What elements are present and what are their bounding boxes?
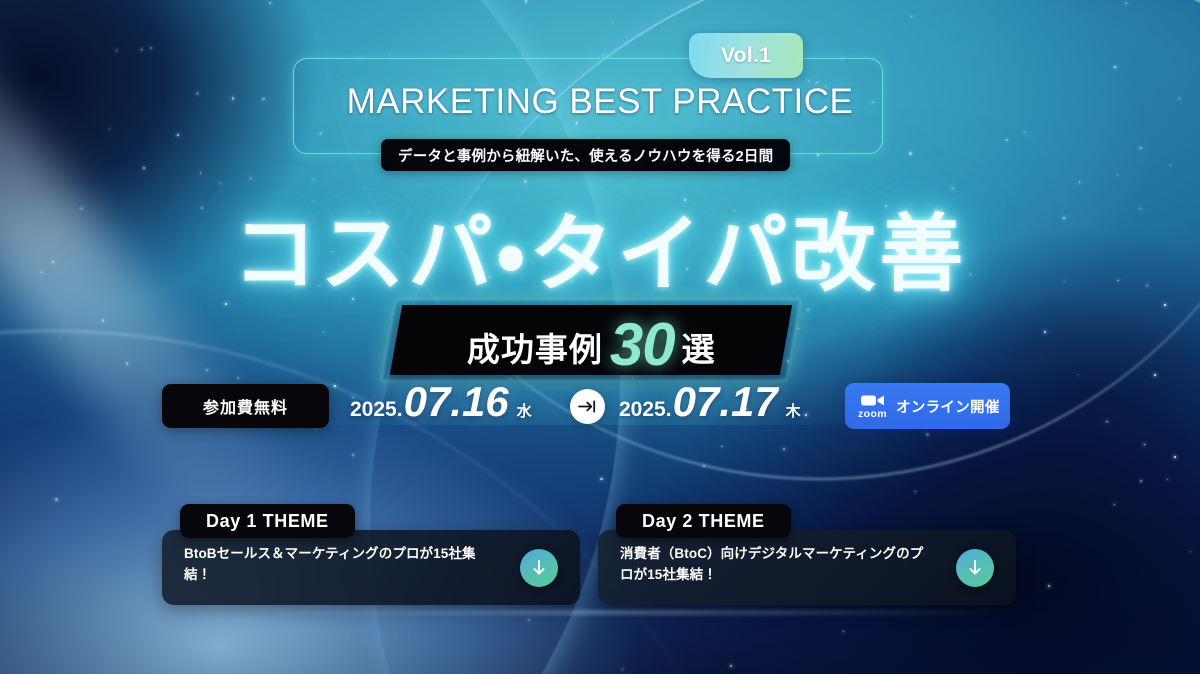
volume-badge-label: Vol.1: [721, 44, 771, 68]
date-start-weekday: 水: [517, 400, 532, 421]
day-card-1-download-button[interactable]: [520, 549, 558, 587]
zoom-logo: zoom: [858, 393, 887, 420]
date-end-year: 2025.: [619, 398, 672, 422]
banner-suffix: 選: [681, 323, 715, 371]
download-arrow-icon: [531, 559, 547, 577]
day-card-2-text: 消費者（BtoC）向けデジタルマーケティングのプロが15社集結！: [620, 543, 930, 586]
zoom-wordmark: zoom: [858, 409, 887, 420]
hero-banner: MARKETING BEST PRACTICE Vol.1 データと事例から紐解…: [0, 0, 1200, 674]
video-camera-icon: [860, 393, 886, 408]
download-arrow-icon: [967, 559, 983, 577]
day-card-2-download-button[interactable]: [956, 549, 994, 587]
banner-number: 30: [610, 310, 675, 379]
banner-prefix: 成功事例: [467, 323, 603, 371]
page-title: MARKETING BEST PRACTICE: [0, 82, 1200, 122]
event-date-end: 2025. 07.17 木: [619, 378, 801, 426]
day-card-1-pill-label: Day 1 THEME: [206, 511, 329, 532]
banner-body: 成功事例 30 選: [390, 305, 792, 375]
main-headline: コスパ・タイパ改善: [0, 187, 1200, 308]
day-card-2-pill-label: Day 2 THEME: [642, 511, 765, 532]
free-entry-label: 参加費無料: [203, 394, 288, 418]
day-card-1-text: BtoBセールス＆マーケティングのプロが15社集結！: [184, 543, 494, 586]
zoom-online-badge[interactable]: zoom オンライン開催: [845, 383, 1010, 429]
subtitle-text: データと事例から紐解いた、使えるノウハウを得る2日間: [398, 145, 773, 166]
date-end-day: 07.17: [673, 378, 778, 426]
date-start-year: 2025.: [350, 398, 403, 422]
free-entry-badge: 参加費無料: [162, 384, 329, 428]
subtitle-pill: データと事例から紐解いた、使えるノウハウを得る2日間: [381, 139, 790, 171]
arrow-to-line-icon: [570, 389, 605, 424]
day-card-1[interactable]: Day 1 THEME BtoBセールス＆マーケティングのプロが15社集結！: [162, 530, 580, 605]
date-start-day: 07.16: [404, 378, 509, 426]
date-end-weekday: 木: [786, 400, 801, 421]
day-card-1-pill: Day 1 THEME: [180, 504, 355, 538]
case-count-banner: 成功事例 30 選: [396, 305, 786, 375]
zoom-badge-label: オンライン開催: [896, 396, 1000, 417]
day-card-2-pill: Day 2 THEME: [616, 504, 791, 538]
event-date-start: 2025. 07.16 水: [350, 378, 532, 426]
day-card-2[interactable]: Day 2 THEME 消費者（BtoC）向けデジタルマーケティングのプロが15…: [598, 530, 1016, 605]
volume-badge: Vol.1: [689, 33, 803, 78]
